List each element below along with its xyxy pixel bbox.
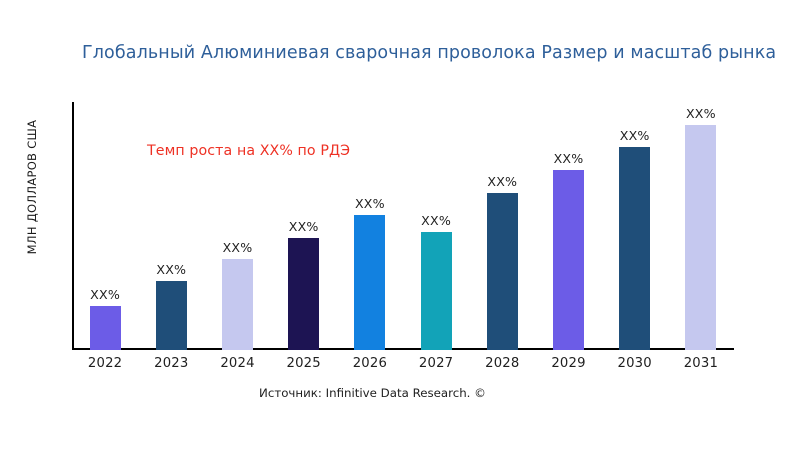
- bar-value-label: XX%: [90, 287, 120, 302]
- chart-title: Глобальный Алюминиевая сварочная проволо…: [82, 41, 800, 65]
- bar-rect[interactable]: [156, 281, 187, 350]
- bar-rect[interactable]: [553, 170, 584, 350]
- bar-value-label: XX%: [421, 213, 451, 228]
- y-axis-title: МЛН ДОЛЛАРОВ США: [25, 67, 39, 307]
- bar-2026[interactable]: XX%: [354, 189, 385, 350]
- bar-value-label: XX%: [554, 151, 584, 166]
- bar-rect[interactable]: [288, 238, 319, 350]
- source-note: Источник: Infinitive Data Research. ©: [0, 386, 745, 400]
- bar-2025[interactable]: XX%: [288, 212, 319, 350]
- bar-value-label: XX%: [289, 219, 319, 234]
- bar-value-label: XX%: [686, 106, 716, 121]
- x-tick-label-2031: 2031: [661, 356, 741, 371]
- bar-value-label: XX%: [223, 240, 253, 255]
- bar-rect[interactable]: [619, 147, 650, 350]
- bar-2028[interactable]: XX%: [487, 167, 518, 350]
- bar-rect[interactable]: [685, 125, 716, 350]
- bar-2024[interactable]: XX%: [222, 233, 253, 350]
- bar-2027[interactable]: XX%: [421, 206, 452, 350]
- plot-area: XX%XX%XX%XX%XX%XX%XX%XX%XX%XX%: [72, 102, 734, 350]
- bar-rect[interactable]: [354, 215, 385, 350]
- bar-2031[interactable]: XX%: [685, 99, 716, 350]
- bar-rect[interactable]: [222, 259, 253, 350]
- bar-value-label: XX%: [487, 174, 517, 189]
- bar-value-label: XX%: [156, 262, 186, 277]
- bar-2022[interactable]: XX%: [90, 280, 121, 350]
- y-axis-line: [72, 102, 74, 349]
- bar-value-label: XX%: [620, 128, 650, 143]
- bar-2023[interactable]: XX%: [156, 255, 187, 350]
- bar-2030[interactable]: XX%: [619, 121, 650, 350]
- bar-rect[interactable]: [487, 193, 518, 350]
- bar-2029[interactable]: XX%: [553, 144, 584, 350]
- bar-rect[interactable]: [421, 232, 452, 350]
- bar-value-label: XX%: [355, 196, 385, 211]
- bar-chart-figure: Глобальный Алюминиевая сварочная проволо…: [0, 0, 800, 450]
- bar-rect[interactable]: [90, 306, 121, 350]
